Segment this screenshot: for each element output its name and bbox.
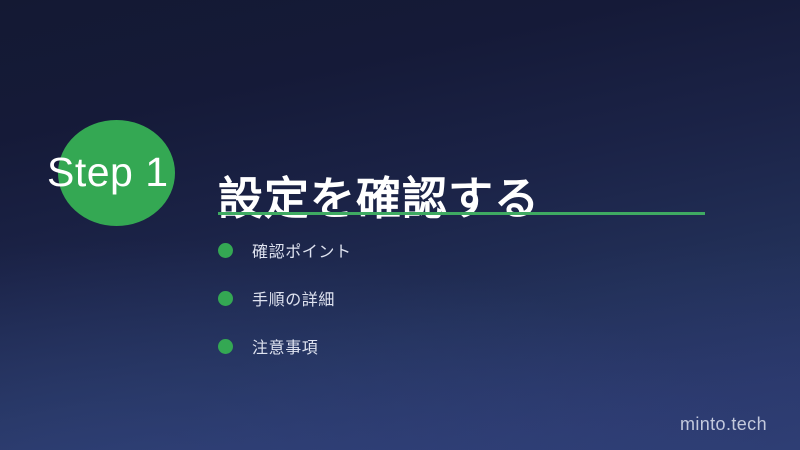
bullet-list: 確認ポイント 手順の詳細 注意事項 [218,238,352,382]
title-underline-divider [218,212,705,215]
footer-watermark: minto.tech [680,414,767,435]
list-item: 注意事項 [218,334,352,358]
list-item: 確認ポイント [218,238,352,262]
presentation-slide: Step 1 設定を確認する 確認ポイント 手順の詳細 注意事項 minto.t… [0,0,800,450]
list-item: 手順の詳細 [218,286,352,310]
list-item-label: 手順の詳細 [252,286,335,310]
step-number-label: Step 1 [47,152,169,193]
slide-content: Step 1 設定を確認する 確認ポイント 手順の詳細 注意事項 minto.t… [0,0,800,450]
list-item-label: 注意事項 [252,334,318,358]
bullet-dot-icon [218,291,233,306]
bullet-dot-icon [218,243,233,258]
bullet-dot-icon [218,339,233,354]
list-item-label: 確認ポイント [252,238,352,262]
page-title: 設定を確認する [218,175,540,222]
